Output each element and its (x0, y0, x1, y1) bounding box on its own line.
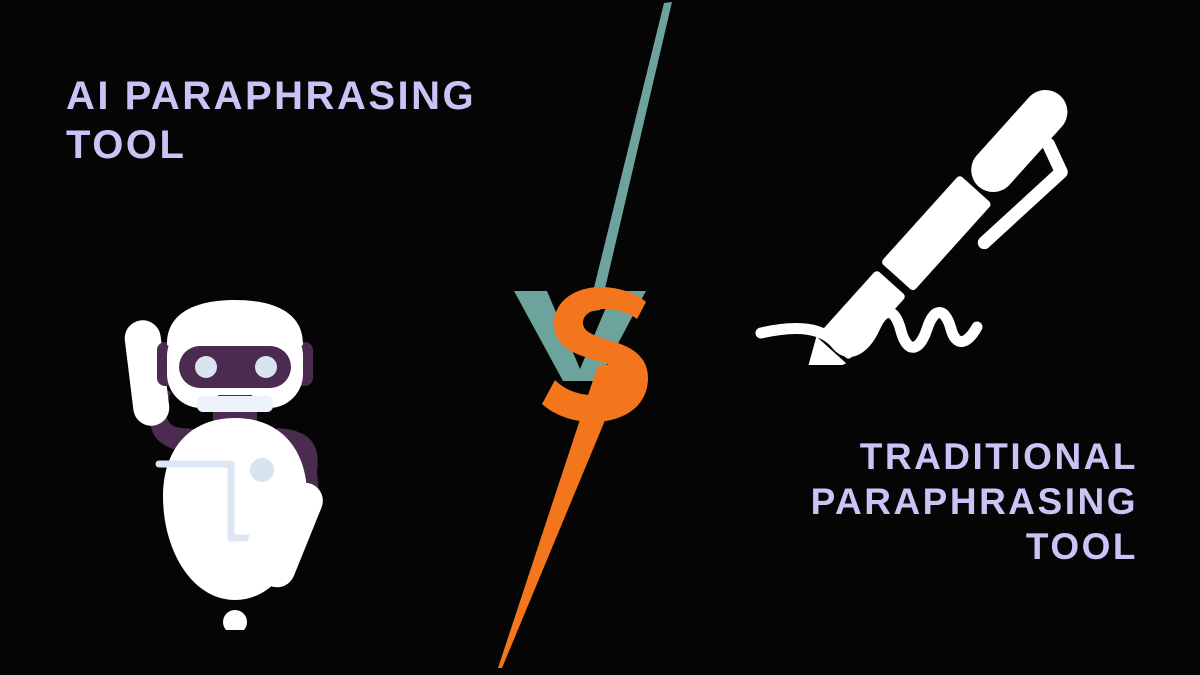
traditional-pen-illustration (745, 45, 1145, 365)
vs-letter-v (514, 291, 646, 381)
right-panel-title: TRADITIONAL PARAPHRASING TOOL (718, 434, 1138, 569)
left-panel-title: AI PARAPHRASING TOOL (66, 72, 536, 170)
comparison-slide: AI PARAPHRASING TOOL TRADITIONAL PARAPHR… (0, 0, 1200, 675)
robot-hover-dot (223, 610, 247, 630)
pen-cap-top (962, 81, 1076, 201)
ai-robot-illustration (105, 300, 375, 630)
robot-chin-plate (197, 396, 273, 412)
orange-spike (498, 365, 628, 668)
teal-spike (588, 2, 672, 312)
robot-left-eye (195, 356, 217, 378)
robot-right-eye (255, 356, 277, 378)
robot-body-button (250, 458, 274, 482)
vs-letter-s (542, 287, 648, 422)
pen-barrel (881, 175, 993, 292)
robot-head-dome (167, 300, 303, 347)
